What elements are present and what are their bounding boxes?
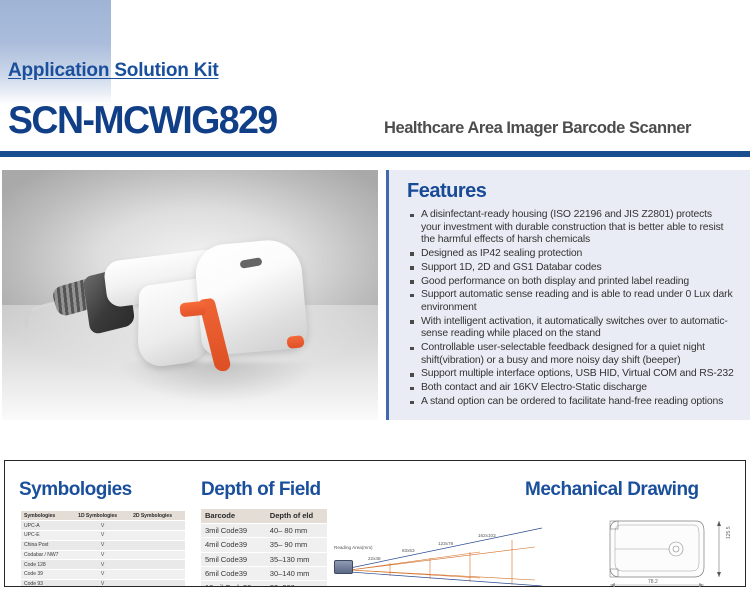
table-row: China PostV <box>21 540 185 550</box>
table-cell: V <box>75 550 130 560</box>
table-row: Code 128V <box>21 560 185 570</box>
depth-of-field-table: BarcodeDepth of eld 3mil Code3940– 80 mm… <box>201 509 327 587</box>
table-cell: 40– 80 mm <box>266 523 327 537</box>
application-solution-kit-label: Application Solution Kit <box>8 60 219 82</box>
column-header: 2D Symbologies <box>130 511 185 521</box>
features-panel: Features A disinfectant-ready housing (I… <box>386 170 750 420</box>
column-header: Depth of eld <box>266 509 327 523</box>
table-cell: V <box>75 570 130 580</box>
feature-item: Support multiple interface options, USB … <box>421 368 734 381</box>
table-cell: UPC-A <box>21 521 75 531</box>
header-divider-rule <box>0 151 750 157</box>
depth-of-field-title: Depth of Field <box>201 479 321 501</box>
table-cell: 6mil Code39 <box>201 566 266 580</box>
table-cell <box>130 579 185 587</box>
mechanical-drawing-figure: 125.5 78.2 <box>600 505 746 591</box>
table-cell <box>130 530 185 540</box>
scanner-trigger <box>179 301 206 318</box>
table-cell: 35–130 mm <box>266 552 327 566</box>
feature-item: Controllable user-selectable feedback de… <box>421 342 734 367</box>
feature-item: With intelligent activation, it automati… <box>421 316 734 341</box>
mechanical-drawing-svg <box>600 505 746 591</box>
scanner-foot <box>286 335 304 349</box>
table-cell: V <box>75 560 130 570</box>
reading-area-scanner-icon <box>334 560 353 574</box>
page-header: Application Solution Kit SCN-MCWIG829 He… <box>0 0 750 158</box>
features-title: Features <box>407 180 740 203</box>
table-cell: China Post <box>21 540 75 550</box>
table-header-row: Symbologies1D Symbologies2D Symbologies <box>21 511 185 521</box>
reading-area-marker-4: 162x103 <box>478 533 496 538</box>
table-cell: Code 39 <box>21 570 75 580</box>
reading-area-marker-3: 123x78 <box>438 541 453 546</box>
mechanical-drawing-title: Mechanical Drawing <box>525 479 699 501</box>
feature-item: Support 1D, 2D and GS1 Databar codes <box>421 262 734 275</box>
table-row: 3mil Code3940– 80 mm <box>201 523 327 537</box>
product-subtitle: Healthcare Area Imager Barcode Scanner <box>384 119 691 138</box>
product-photo <box>2 170 378 420</box>
table-cell <box>130 570 185 580</box>
table-cell: V <box>75 579 130 587</box>
feature-item: Designed as IP42 sealing protection <box>421 248 734 261</box>
table-cell <box>130 560 185 570</box>
reading-area-diagram: Reading Area(mm) 22x48 83x53 123x78 162x… <box>330 500 545 591</box>
table-cell: 5mil Code39 <box>201 552 266 566</box>
table-row: 4mil Code3935– 90 mm <box>201 538 327 552</box>
feature-item: A stand option can be ordered to facilit… <box>421 396 734 409</box>
table-row: 5mil Code3935–130 mm <box>201 552 327 566</box>
table-cell <box>130 521 185 531</box>
mech-height-dimension: 125.5 <box>726 526 732 539</box>
table-cell: V <box>75 521 130 531</box>
mech-width-dimension: 78.2 <box>648 579 658 585</box>
feature-item: Both contact and air 16KV Electro-Static… <box>421 382 734 395</box>
column-header: Symbologies <box>21 511 75 521</box>
table-cell <box>130 550 185 560</box>
table-cell: 3mil Code39 <box>201 523 266 537</box>
table-cell: 30–140 mm <box>266 566 327 580</box>
table-cell: 4mil Code39 <box>201 538 266 552</box>
table-cell: 10mil Code39 <box>201 581 266 587</box>
table-cell: V <box>75 530 130 540</box>
table-cell: Codabar / NW7 <box>21 550 75 560</box>
table-row: UPC-AV <box>21 521 185 531</box>
table-cell: V <box>75 540 130 550</box>
table-row: Code 39V <box>21 570 185 580</box>
table-cell <box>130 540 185 550</box>
table-row: Codabar / NW7V <box>21 550 185 560</box>
reading-area-label: Reading Area(mm) <box>334 545 373 550</box>
table-header-row: BarcodeDepth of eld <box>201 509 327 523</box>
table-cell: 30–200 mm <box>266 581 327 587</box>
table-cell: 35– 90 mm <box>266 538 327 552</box>
table-row: 10mil Code3930–200 mm <box>201 581 327 587</box>
table-row: UPC-EV <box>21 530 185 540</box>
feature-item: Support automatic sense reading and is a… <box>421 289 734 314</box>
feature-item: A disinfectant-ready housing (ISO 22196 … <box>421 209 734 247</box>
table-cell: Code 128 <box>21 560 75 570</box>
column-header: Barcode <box>201 509 266 523</box>
reading-area-marker-1: 22x48 <box>368 556 381 561</box>
feature-item: Good performance on both display and pri… <box>421 276 734 289</box>
reading-area-marker-2: 83x53 <box>402 548 415 553</box>
symbologies-table: Symbologies1D Symbologies2D Symbologies … <box>21 511 185 587</box>
column-header: 1D Symbologies <box>75 511 130 521</box>
table-cell: Code 93 <box>21 579 75 587</box>
table-cell: UPC-E <box>21 530 75 540</box>
table-row: Code 93V <box>21 579 185 587</box>
symbologies-title: Symbologies <box>19 479 132 501</box>
table-row: 6mil Code3930–140 mm <box>201 566 327 580</box>
product-model-title: SCN-MCWIG829 <box>8 101 277 140</box>
features-list: A disinfectant-ready housing (ISO 22196 … <box>399 209 740 409</box>
